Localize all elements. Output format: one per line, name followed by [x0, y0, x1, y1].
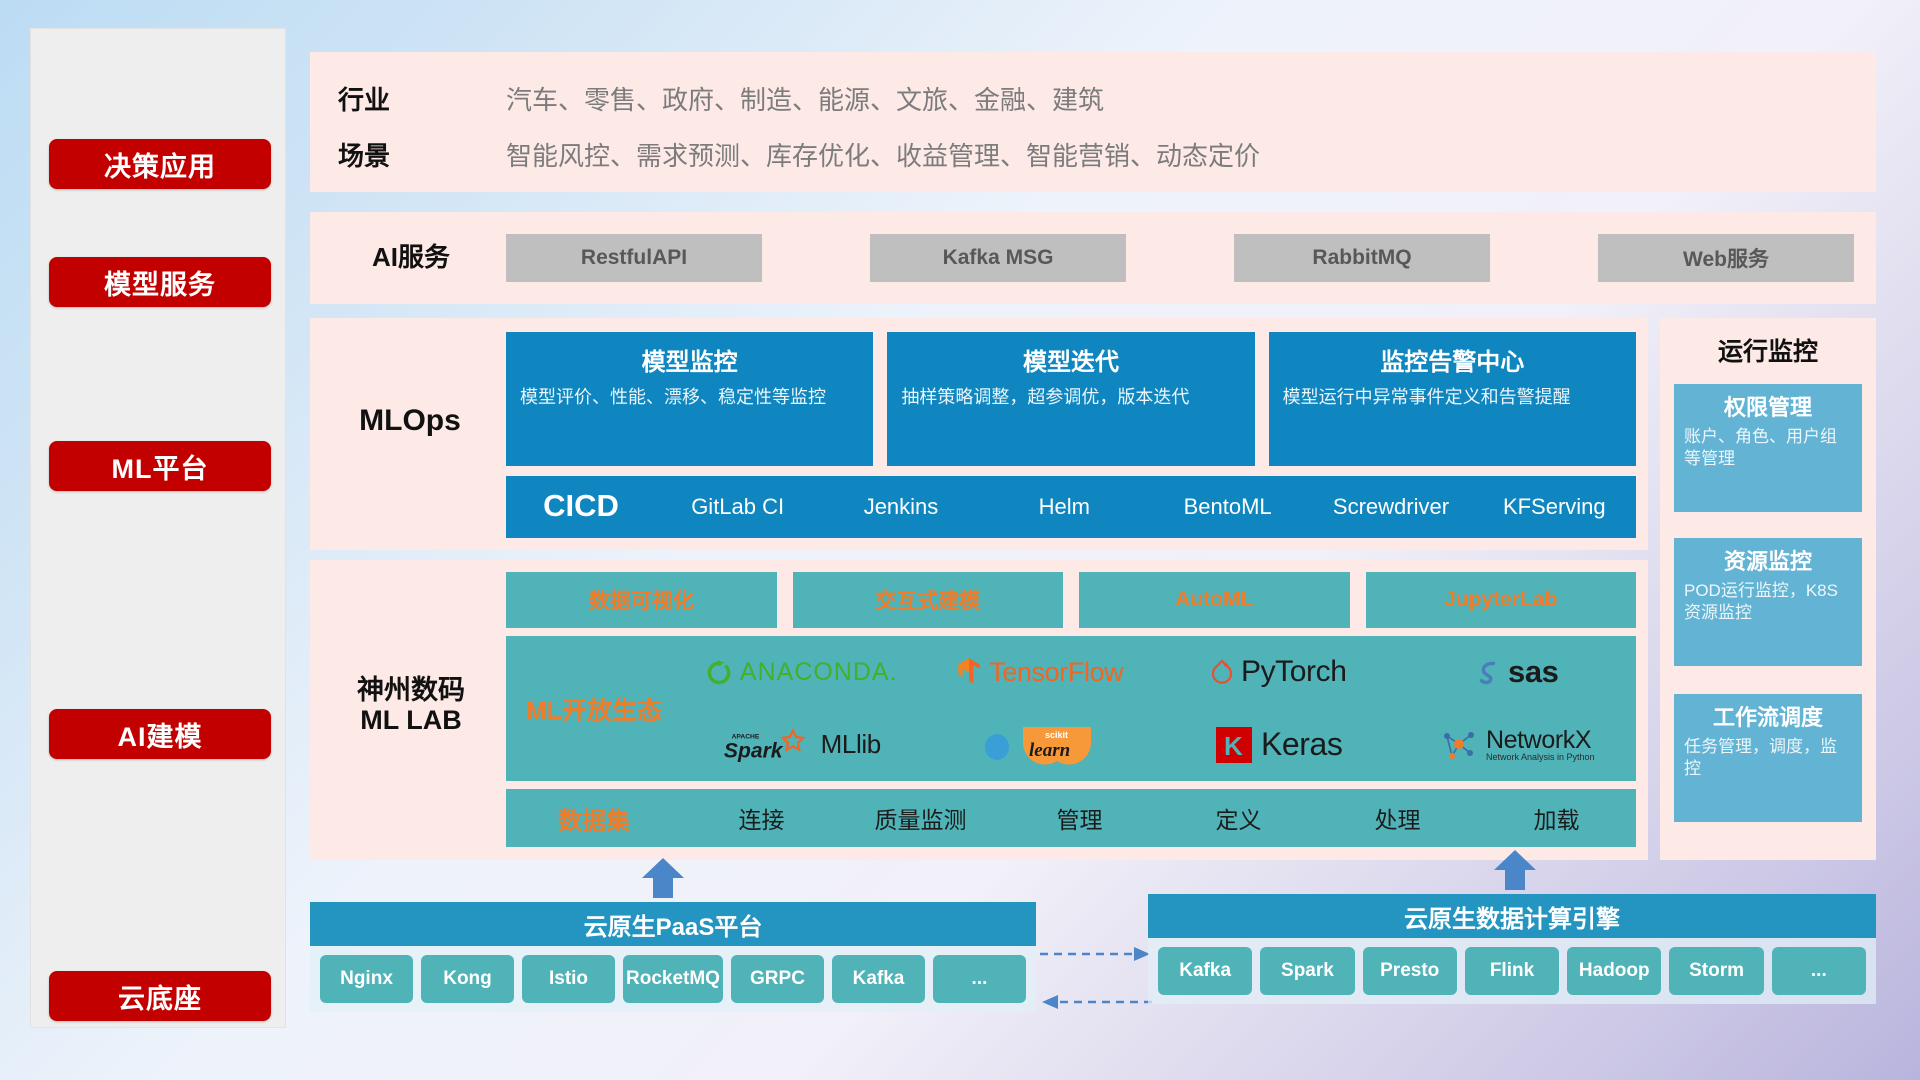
cicd-item-kfserving[interactable]: KFServing: [1473, 476, 1636, 522]
svg-text:scikit: scikit: [1045, 730, 1068, 740]
card-title: 模型迭代: [901, 342, 1240, 377]
ecosystem-title: ML开放生态: [506, 691, 682, 727]
card-desc: 任务管理，调度，监控: [1684, 736, 1852, 781]
rail-label: 云底座: [118, 977, 202, 1016]
mlops-card-list: 模型监控 模型评价、性能、漂移、稳定性等监控 模型迭代 抽样策略调整，超参调优，…: [506, 332, 1636, 466]
service-restfulapi[interactable]: RestfulAPI: [506, 234, 762, 282]
pytorch-logo: PyTorch: [1210, 655, 1347, 689]
rail-label: ML平台: [112, 447, 209, 486]
rail-item-model-service[interactable]: 模型服务: [49, 257, 271, 307]
spark-mllib-logo: APACHE Spark MLlib: [722, 727, 881, 763]
engine-chip-hadoop[interactable]: Hadoop: [1567, 947, 1661, 995]
anaconda-wordmark: ANACONDA.: [740, 658, 898, 687]
dataset-title: 数据集: [506, 801, 682, 836]
card-title: 权限管理: [1684, 390, 1852, 422]
ml-lab-label-line2: ML LAB: [360, 705, 462, 735]
card-desc: 模型运行中异常事件定义和告警提醒: [1283, 385, 1622, 409]
paas-chip-nginx[interactable]: Nginx: [320, 955, 413, 1003]
rail-item-decision-apps[interactable]: 决策应用: [49, 139, 271, 189]
rail-label: AI建模: [118, 715, 203, 754]
cicd-title: CICD: [506, 476, 656, 536]
paas-chip-more[interactable]: ...: [933, 955, 1026, 1003]
scenario-value: 智能风控、需求预测、库存优化、收益管理、智能营销、动态定价: [506, 136, 1260, 173]
rail-label: 决策应用: [104, 145, 216, 184]
ai-modeling-band: 神州数码 ML LAB 数据可视化 交互式建模 AutoML JupyterLa…: [310, 560, 1648, 860]
mlops-card-model-monitoring[interactable]: 模型监控 模型评价、性能、漂移、稳定性等监控: [506, 332, 873, 466]
cicd-item-helm[interactable]: Helm: [983, 476, 1146, 522]
keras-mark-icon: K: [1214, 725, 1254, 765]
svg-text:learn: learn: [1029, 740, 1070, 761]
svg-text:Spark: Spark: [724, 739, 784, 762]
ml-lab-label: 神州数码 ML LAB: [326, 670, 496, 740]
svg-text:K: K: [1224, 731, 1243, 761]
card-title: 模型监控: [520, 342, 859, 377]
engine-chip-spark[interactable]: Spark: [1260, 947, 1354, 995]
sas-mark-icon: [1475, 659, 1501, 685]
tensorflow-wordmark: TensorFlow: [989, 657, 1123, 688]
up-arrow-icon-engine: [1492, 850, 1538, 890]
mlops-card-model-iteration[interactable]: 模型迭代 抽样策略调整，超参调优，版本迭代: [887, 332, 1254, 466]
ml-lab-label-line1: 神州数码: [357, 675, 465, 705]
tool-jupyterlab[interactable]: JupyterLab: [1366, 572, 1637, 628]
rail-label: 模型服务: [104, 263, 216, 302]
industry-label: 行业: [338, 80, 488, 117]
dataset-step-process[interactable]: 处理: [1318, 801, 1477, 835]
tool-automl[interactable]: AutoML: [1079, 572, 1350, 628]
engine-chip-presto[interactable]: Presto: [1363, 947, 1457, 995]
paas-chip-kafka[interactable]: Kafka: [832, 955, 925, 1003]
anaconda-logo: ANACONDA.: [705, 658, 898, 687]
up-arrow-icon-paas: [640, 858, 686, 898]
mlops-label: MLOps: [330, 396, 490, 446]
dataset-step-quality-monitor[interactable]: 质量监测: [841, 801, 1000, 835]
runtime-monitoring-band: 运行监控 权限管理 账户、角色、用户组等管理 资源监控 POD运行监控，K8S资…: [1660, 318, 1876, 860]
dataset-step-load[interactable]: 加载: [1477, 801, 1636, 835]
card-desc: POD运行监控，K8S资源监控: [1684, 580, 1852, 625]
dataset-pipeline-row: 数据集 连接 质量监测 管理 定义 处理 加载: [506, 789, 1636, 847]
sas-wordmark: sas: [1508, 654, 1559, 690]
engine-chip-more[interactable]: ...: [1772, 947, 1866, 995]
card-title: 工作流调度: [1684, 700, 1852, 732]
cicd-item-jenkins[interactable]: Jenkins: [819, 476, 982, 522]
cloud-native-paas-group: 云原生PaaS平台 Nginx Kong Istio RocketMQ GRPC…: [310, 902, 1036, 1012]
rail-item-ai-modeling[interactable]: AI建模: [49, 709, 271, 759]
dataset-step-define[interactable]: 定义: [1159, 801, 1318, 835]
ops-card-permission-management[interactable]: 权限管理 账户、角色、用户组等管理: [1674, 384, 1862, 512]
anaconda-mark-icon: [705, 658, 733, 686]
paas-chip-list: Nginx Kong Istio RocketMQ GRPC Kafka ...: [310, 946, 1036, 1012]
card-desc: 抽样策略调整，超参调优，版本迭代: [901, 385, 1240, 409]
ops-card-workflow-scheduling[interactable]: 工作流调度 任务管理，调度，监控: [1674, 694, 1862, 822]
engine-title: 云原生数据计算引擎: [1148, 894, 1876, 938]
scenario-label: 场景: [338, 136, 488, 173]
pytorch-wordmark: PyTorch: [1241, 655, 1347, 689]
pytorch-mark-icon: [1210, 658, 1234, 686]
cloud-native-data-engine-group: 云原生数据计算引擎 Kafka Spark Presto Flink Hadoo…: [1148, 894, 1876, 1004]
paas-chip-grpc[interactable]: GRPC: [731, 955, 824, 1003]
tensorflow-mark-icon: [956, 657, 982, 687]
card-title: 资源监控: [1684, 544, 1852, 576]
cicd-item-bentoml[interactable]: BentoML: [1146, 476, 1309, 522]
bidirectional-link-arrows-icon: [1040, 940, 1152, 1020]
tool-interactive-modeling[interactable]: 交互式建模: [793, 572, 1064, 628]
card-desc: 模型评价、性能、漂移、稳定性等监控: [520, 385, 859, 409]
scikit-learn-mark-icon: scikit learn: [1019, 723, 1095, 767]
cicd-item-gitlab-ci[interactable]: GitLab CI: [656, 476, 819, 522]
rail-item-ml-platform[interactable]: ML平台: [49, 441, 271, 491]
apache-spark-mark-icon: APACHE Spark: [722, 727, 814, 763]
mlops-card-alert-center[interactable]: 监控告警中心 模型运行中异常事件定义和告警提醒: [1269, 332, 1636, 466]
dataset-step-manage[interactable]: 管理: [1000, 801, 1159, 835]
cicd-item-screwdriver[interactable]: Screwdriver: [1309, 476, 1472, 522]
ai-services-band: AI服务 RestfulAPI Kafka MSG RabbitMQ Web服务: [310, 212, 1876, 304]
keras-wordmark: Keras: [1261, 726, 1343, 763]
paas-chip-istio[interactable]: Istio: [522, 955, 615, 1003]
ml-lab-tool-list: 数据可视化 交互式建模 AutoML JupyterLab: [506, 572, 1636, 628]
cicd-bar: CICD GitLab CI Jenkins Helm BentoML Scre…: [506, 476, 1636, 538]
keras-logo: K Keras: [1214, 725, 1343, 765]
sas-logo: sas: [1475, 654, 1559, 690]
engine-chip-storm[interactable]: Storm: [1669, 947, 1763, 995]
ai-services-label: AI服务: [336, 236, 486, 280]
paas-title: 云原生PaaS平台: [310, 902, 1036, 946]
engine-chip-list: Kafka Spark Presto Flink Hadoop Storm ..…: [1148, 938, 1876, 1004]
industry-value: 汽车、零售、政府、制造、能源、文旅、金融、建筑: [506, 80, 1104, 117]
networkx-mark-icon: [1439, 727, 1479, 763]
ecosystem-logo-grid: ANACONDA. TensorFlow PyTorch sas APACHE …: [682, 636, 1636, 781]
mlops-band: MLOps 模型监控 模型评价、性能、漂移、稳定性等监控 模型迭代 抽样策略调整…: [310, 318, 1648, 550]
left-rail-panel: 决策应用 模型服务 ML平台 AI建模 云底座: [30, 28, 286, 1028]
service-kafka-msg[interactable]: Kafka MSG: [870, 234, 1126, 282]
ops-card-resource-monitoring[interactable]: 资源监控 POD运行监控，K8S资源监控: [1674, 538, 1862, 666]
ai-services-list: RestfulAPI Kafka MSG RabbitMQ Web服务: [506, 234, 1854, 282]
service-rabbitmq[interactable]: RabbitMQ: [1234, 234, 1490, 282]
engine-chip-flink[interactable]: Flink: [1465, 947, 1559, 995]
tensorflow-logo: TensorFlow: [956, 657, 1123, 688]
service-web[interactable]: Web服务: [1598, 234, 1854, 282]
paas-chip-rocketmq[interactable]: RocketMQ: [623, 955, 723, 1003]
paas-chip-kong[interactable]: Kong: [421, 955, 514, 1003]
mllib-wordmark: MLlib: [821, 729, 881, 760]
ml-open-ecosystem: ML开放生态 ANACONDA. TensorFlow PyTorch sas: [506, 636, 1636, 781]
scikit-learn-logo: scikit learn: [984, 723, 1095, 767]
dataset-step-connect[interactable]: 连接: [682, 801, 841, 835]
decision-applications-band: 行业 汽车、零售、政府、制造、能源、文旅、金融、建筑 场景 智能风控、需求预测、…: [310, 52, 1876, 192]
tool-data-visualization[interactable]: 数据可视化: [506, 572, 777, 628]
networkx-wordmark: NetworkX: [1486, 728, 1595, 753]
runtime-monitoring-title: 运行监控: [1660, 318, 1876, 368]
card-desc: 账户、角色、用户组等管理: [1684, 426, 1852, 471]
card-title: 监控告警中心: [1283, 342, 1622, 377]
networkx-logo: NetworkX Network Analysis in Python: [1439, 727, 1595, 763]
rail-item-cloud-foundation[interactable]: 云底座: [49, 971, 271, 1021]
engine-chip-kafka[interactable]: Kafka: [1158, 947, 1252, 995]
